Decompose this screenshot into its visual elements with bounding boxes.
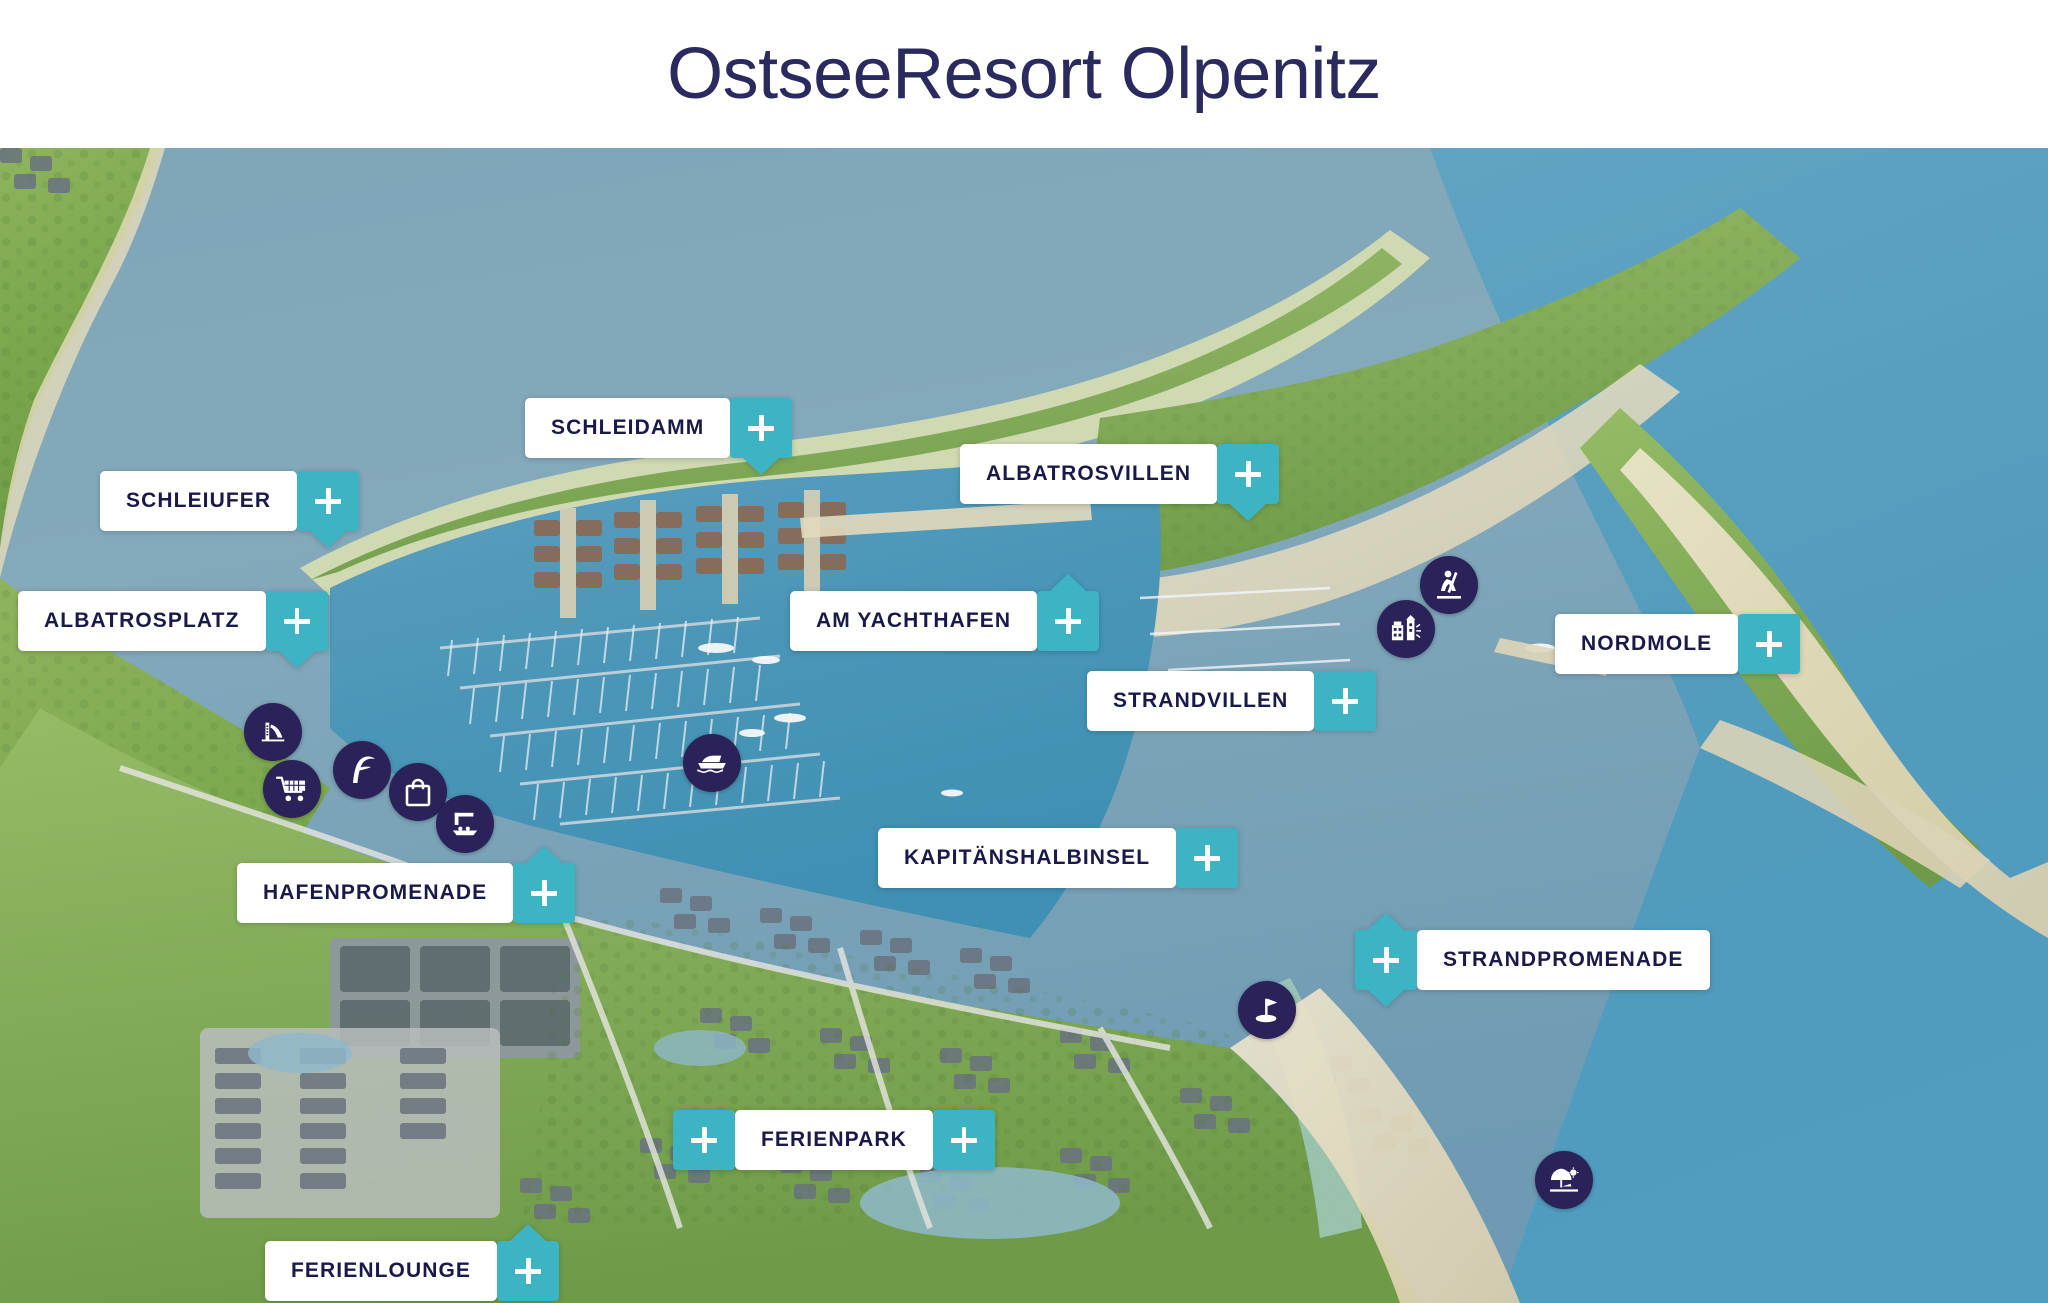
hotspot-plus-hafenpromenade[interactable] <box>513 863 575 923</box>
hotspot-label-strandpromenade: STRANDPROMENADE <box>1417 930 1710 990</box>
stand-up-paddle-icon[interactable] <box>1420 556 1478 614</box>
hotspot-label-ferienlounge: FERIENLOUNGE <box>265 1241 497 1301</box>
hotspot-plus-schleidamm[interactable] <box>730 398 792 458</box>
hotspot-label-albatrosvillen: ALBATROSVILLEN <box>960 444 1217 504</box>
hotspot-strandvillen[interactable]: STRANDVILLEN <box>1087 671 1376 731</box>
plus-icon <box>951 1127 977 1153</box>
hotspot-plus-ferienlounge[interactable] <box>497 1241 559 1301</box>
plus-icon <box>284 608 310 634</box>
page-header: OstseeResort Olpenitz <box>0 0 2048 148</box>
plus-icon <box>1194 845 1220 871</box>
hotspot-kapitaenshalbinsel[interactable]: KAPITÄNSHALBINSEL <box>878 828 1238 888</box>
hotspot-label-ferienpark: FERIENPARK <box>735 1110 933 1170</box>
plus-icon <box>1332 688 1358 714</box>
hotspot-am-yachthafen[interactable]: AM YACHTHAFEN <box>790 591 1099 651</box>
plus-icon <box>1235 461 1261 487</box>
hotspot-label-am-yachthafen: AM YACHTHAFEN <box>790 591 1037 651</box>
shopping-cart-icon[interactable] <box>263 760 321 818</box>
hotspot-plus-strandvillen[interactable] <box>1314 671 1376 731</box>
hotspot-label-kapitaenshalbinsel: KAPITÄNSHALBINSEL <box>878 828 1176 888</box>
hotspot-plus-kapitaenshalbinsel[interactable] <box>1176 828 1238 888</box>
hotspot-plus-ferienpark-right[interactable] <box>933 1110 995 1170</box>
plus-icon <box>1756 631 1782 657</box>
plus-icon <box>1373 947 1399 973</box>
plus-icon <box>691 1127 717 1153</box>
hotspot-ferienpark[interactable]: FERIENPARK <box>673 1110 995 1170</box>
hotspot-label-albatrosplatz: ALBATROSPLATZ <box>18 591 266 651</box>
hotspot-plus-albatrosplatz[interactable] <box>266 591 328 651</box>
hotspot-schleidamm[interactable]: SCHLEIDAMM <box>525 398 792 458</box>
hotspot-label-strandvillen: STRANDVILLEN <box>1087 671 1314 731</box>
beach-umbrella-icon[interactable] <box>1535 1151 1593 1209</box>
page-title: OstseeResort Olpenitz <box>667 38 1381 110</box>
boat-ramp-icon[interactable] <box>436 795 494 853</box>
aerial-map-image <box>0 148 2048 1303</box>
hotspot-plus-nordmole[interactable] <box>1738 614 1800 674</box>
hotspot-label-schleidamm: SCHLEIDAMM <box>525 398 730 458</box>
hotspot-albatrosplatz[interactable]: ALBATROSPLATZ <box>18 591 328 651</box>
hotspot-ferienlounge[interactable]: FERIENLOUNGE <box>265 1241 559 1301</box>
hotspot-strandpromenade[interactable]: STRANDPROMENADE <box>1355 930 1710 990</box>
golf-flag-icon[interactable] <box>1238 981 1296 1039</box>
page-root: OstseeResort Olpenitz <box>0 0 2048 1303</box>
plus-icon <box>515 1258 541 1284</box>
brand-f-logo-icon[interactable] <box>333 741 391 799</box>
hotspot-plus-am-yachthafen[interactable] <box>1037 591 1099 651</box>
hotspot-plus-schleiufer[interactable] <box>297 471 359 531</box>
plus-icon <box>748 415 774 441</box>
hotspot-plus-ferienpark-left[interactable] <box>673 1110 735 1170</box>
plus-icon <box>1055 608 1081 634</box>
hotspot-albatrosvillen[interactable]: ALBATROSVILLEN <box>960 444 1279 504</box>
plus-icon <box>531 880 557 906</box>
hotspot-label-schleiufer: SCHLEIUFER <box>100 471 297 531</box>
hotspot-plus-albatrosvillen[interactable] <box>1217 444 1279 504</box>
resort-map[interactable]: SCHLEIDAMM SCHLEIUFER ALBATROSVILLEN ALB… <box>0 148 2048 1303</box>
hotspot-hafenpromenade[interactable]: HAFENPROMENADE <box>237 863 575 923</box>
plus-icon <box>315 488 341 514</box>
hotspot-nordmole[interactable]: NORDMOLE <box>1555 614 1800 674</box>
hotspot-plus-strandpromenade[interactable] <box>1355 930 1417 990</box>
hotspot-label-nordmole: NORDMOLE <box>1555 614 1738 674</box>
hotspot-schleiufer[interactable]: SCHLEIUFER <box>100 471 359 531</box>
hotspot-label-hafenpromenade: HAFENPROMENADE <box>237 863 513 923</box>
pointer-up-icon <box>1367 913 1405 931</box>
water-slide-icon[interactable] <box>244 703 302 761</box>
motorboat-icon[interactable] <box>683 734 741 792</box>
marina-buildings-icon[interactable] <box>1377 600 1435 658</box>
